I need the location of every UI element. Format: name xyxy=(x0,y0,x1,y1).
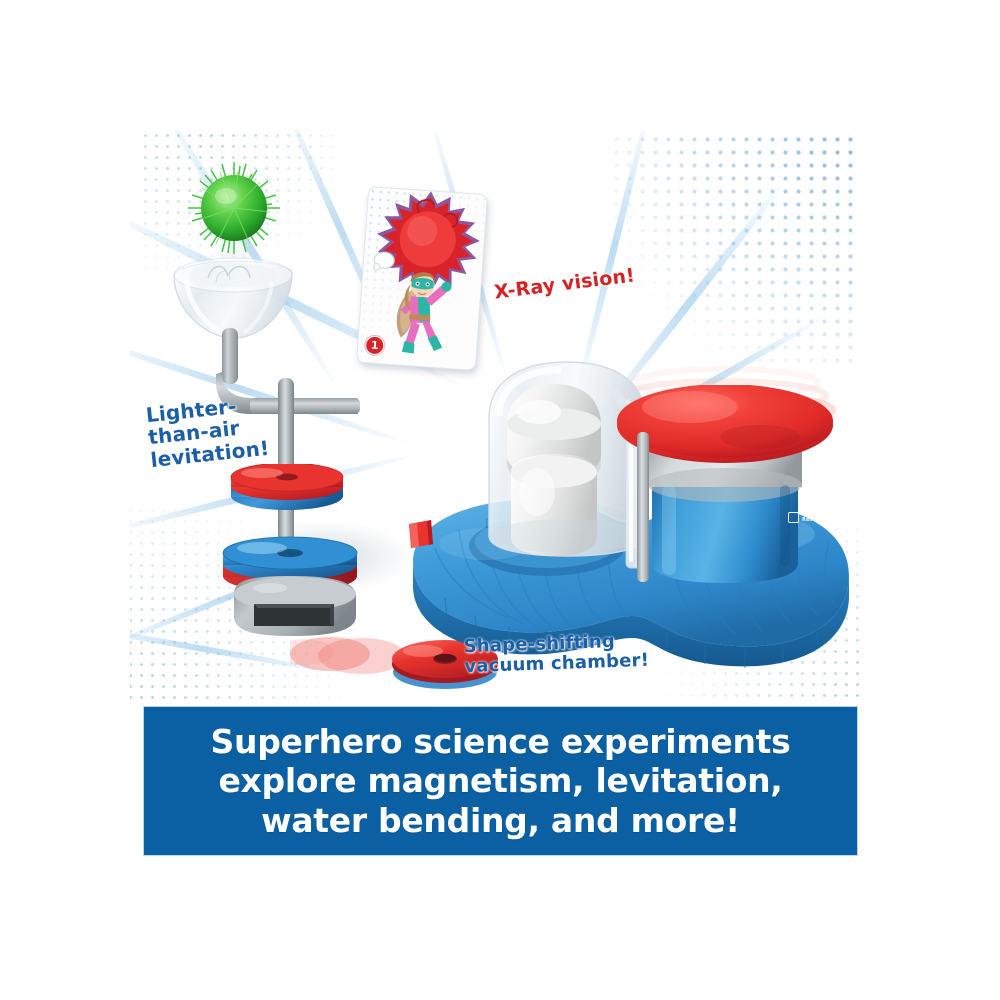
scene-background: 1 xyxy=(130,130,860,700)
pump-guide-rod xyxy=(637,432,649,582)
pom-pom-funnel-assembly xyxy=(160,160,360,410)
logo-mark xyxy=(788,512,799,523)
green-pom-pom-ball xyxy=(186,160,282,256)
logo-wordmark: Learning Resources® xyxy=(802,512,836,524)
product-image: 1 xyxy=(0,0,1000,1000)
ring-magnet-red-upper xyxy=(228,464,346,512)
promo-banner: Superhero science experiments explore ma… xyxy=(143,706,858,856)
callout-lighter-than-air: Lighter- than-air levitation! xyxy=(145,392,270,471)
red-release-button[interactable] xyxy=(405,518,435,552)
vacuum-pump-device: Learning Resources® xyxy=(405,250,855,670)
learning-resources-logo: Learning Resources® xyxy=(788,512,836,524)
callout-shape-shifting: Shape-shifting vacuum chamber! xyxy=(463,631,649,678)
promo-banner-text: Superhero science experiments explore ma… xyxy=(211,722,791,840)
